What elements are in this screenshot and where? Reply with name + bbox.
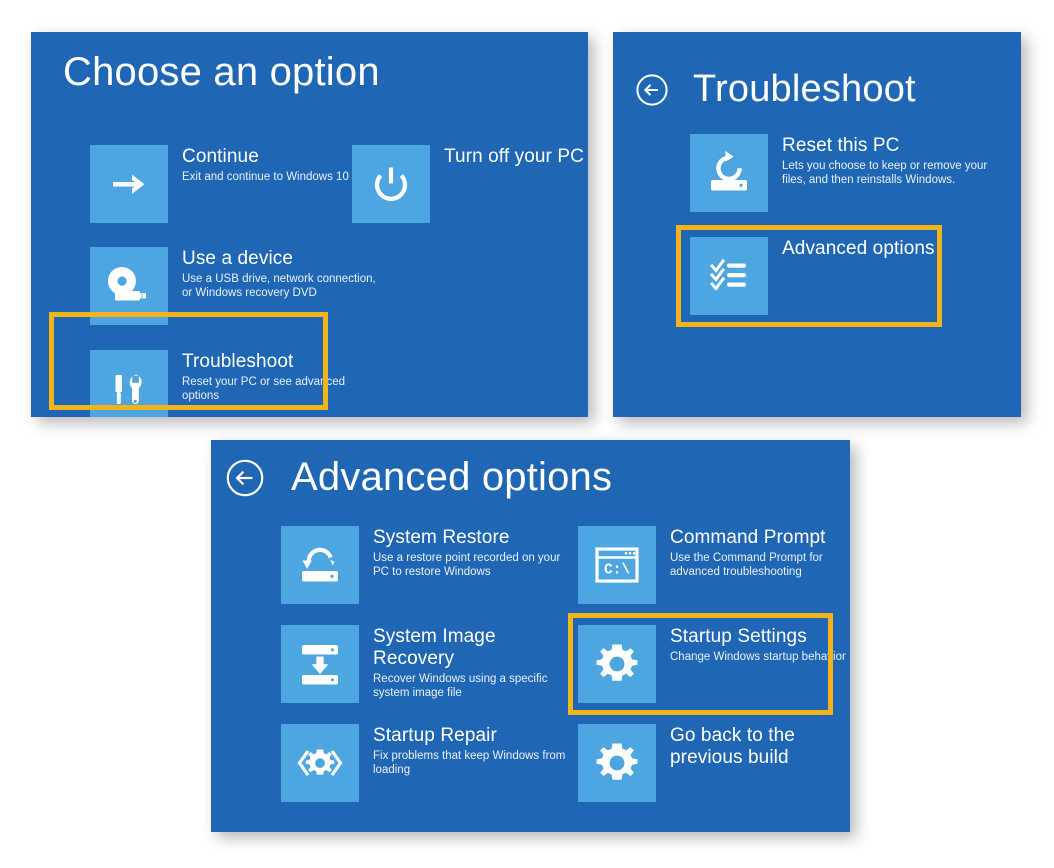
- option-description: Exit and continue to Windows 10: [182, 170, 357, 184]
- troubleshoot-header: Troubleshoot: [635, 68, 916, 111]
- option-title: System Restore: [373, 527, 578, 549]
- option-title: System Image Recovery: [373, 626, 578, 670]
- disk-download-icon: [281, 625, 359, 703]
- back-arrow-icon[interactable]: [225, 458, 265, 498]
- page-title: Choose an option: [63, 50, 380, 95]
- option-command-prompt-text: Command Prompt Use the Command Prompt fo…: [656, 526, 850, 579]
- tools-icon: [90, 350, 168, 417]
- option-system-image-recovery[interactable]: System Image Recovery Recover Windows us…: [281, 625, 578, 703]
- option-continue[interactable]: Continue Exit and continue to Windows 10: [90, 145, 357, 223]
- screenshot-stage: Choose an option Continue Exit and conti…: [0, 0, 1054, 868]
- advanced-options-screen: Advanced options System Restore Use a re…: [211, 440, 850, 832]
- option-system-restore[interactable]: System Restore Use a restore point recor…: [281, 526, 578, 604]
- option-startup-settings-text: Startup Settings Change Windows startup …: [656, 625, 850, 664]
- back-arrow-icon[interactable]: [635, 73, 669, 107]
- option-use-a-device-text: Use a device Use a USB drive, network co…: [168, 247, 382, 300]
- page-title: Advanced options: [291, 455, 612, 500]
- option-description: Change Windows startup behavior: [670, 650, 850, 664]
- option-description: Use a restore point recorded on your PC …: [373, 551, 578, 579]
- option-reset-this-pc-text: Reset this PC Lets you choose to keep or…: [768, 134, 992, 187]
- option-advanced-options[interactable]: Advanced options: [690, 237, 982, 315]
- restore-disk-icon: [281, 526, 359, 604]
- option-command-prompt[interactable]: C:\ Command Prompt Use the Command Promp…: [578, 526, 850, 604]
- option-title: Continue: [182, 146, 357, 168]
- option-title: Startup Repair: [373, 725, 578, 747]
- power-icon: [352, 145, 430, 223]
- advanced-options-header: Advanced options: [225, 455, 612, 500]
- option-title: Command Prompt: [670, 527, 850, 549]
- option-system-restore-text: System Restore Use a restore point recor…: [359, 526, 578, 579]
- option-description: Recover Windows using a specific system …: [373, 672, 578, 700]
- option-turn-off-your-pc[interactable]: Turn off your PC: [352, 145, 588, 223]
- option-title: Use a device: [182, 248, 382, 270]
- option-troubleshoot-text: Troubleshoot Reset your PC or see advanc…: [168, 350, 382, 403]
- option-turn-off-your-pc-text: Turn off your PC: [430, 145, 588, 168]
- option-description: Fix problems that keep Windows from load…: [373, 749, 578, 777]
- troubleshoot-screen: Troubleshoot Reset this PC Lets you choo…: [613, 32, 1021, 417]
- reset-disk-icon: [690, 134, 768, 212]
- option-reset-this-pc[interactable]: Reset this PC Lets you choose to keep or…: [690, 134, 992, 212]
- option-advanced-options-text: Advanced options: [768, 237, 982, 260]
- gear-icon: [578, 625, 656, 703]
- option-startup-repair-text: Startup Repair Fix problems that keep Wi…: [359, 724, 578, 777]
- option-description: Lets you choose to keep or remove your f…: [782, 159, 992, 187]
- option-title: Advanced options: [782, 238, 982, 260]
- option-system-image-recovery-text: System Image Recovery Recover Windows us…: [359, 625, 578, 700]
- choose-an-option-screen: Choose an option Continue Exit and conti…: [31, 32, 588, 417]
- option-title: Reset this PC: [782, 135, 992, 157]
- option-title: Troubleshoot: [182, 351, 382, 373]
- option-go-back-to-previous-build-text: Go back to the previous build: [656, 724, 850, 769]
- arrow-right-icon: [90, 145, 168, 223]
- command-prompt-icon: C:\: [578, 526, 656, 604]
- svg-text:C:\: C:\: [604, 563, 630, 579]
- disc-usb-icon: [90, 247, 168, 325]
- gear-icon: [578, 724, 656, 802]
- option-startup-repair[interactable]: Startup Repair Fix problems that keep Wi…: [281, 724, 578, 802]
- option-title: Startup Settings: [670, 626, 850, 648]
- option-troubleshoot[interactable]: Troubleshoot Reset your PC or see advanc…: [90, 350, 382, 417]
- option-continue-text: Continue Exit and continue to Windows 10: [168, 145, 357, 184]
- option-title: Go back to the previous build: [670, 725, 850, 769]
- gear-brackets-icon: [281, 724, 359, 802]
- page-title: Troubleshoot: [693, 68, 916, 111]
- option-go-back-to-previous-build[interactable]: Go back to the previous build: [578, 724, 850, 802]
- checklist-icon: [690, 237, 768, 315]
- option-use-a-device[interactable]: Use a device Use a USB drive, network co…: [90, 247, 382, 325]
- option-description: Use the Command Prompt for advanced trou…: [670, 551, 850, 579]
- option-description: Use a USB drive, network connection, or …: [182, 272, 382, 300]
- option-title: Turn off your PC: [444, 146, 588, 168]
- option-description: Reset your PC or see advanced options: [182, 375, 382, 403]
- option-startup-settings[interactable]: Startup Settings Change Windows startup …: [578, 625, 850, 703]
- choose-an-option-header: Choose an option: [63, 50, 380, 95]
